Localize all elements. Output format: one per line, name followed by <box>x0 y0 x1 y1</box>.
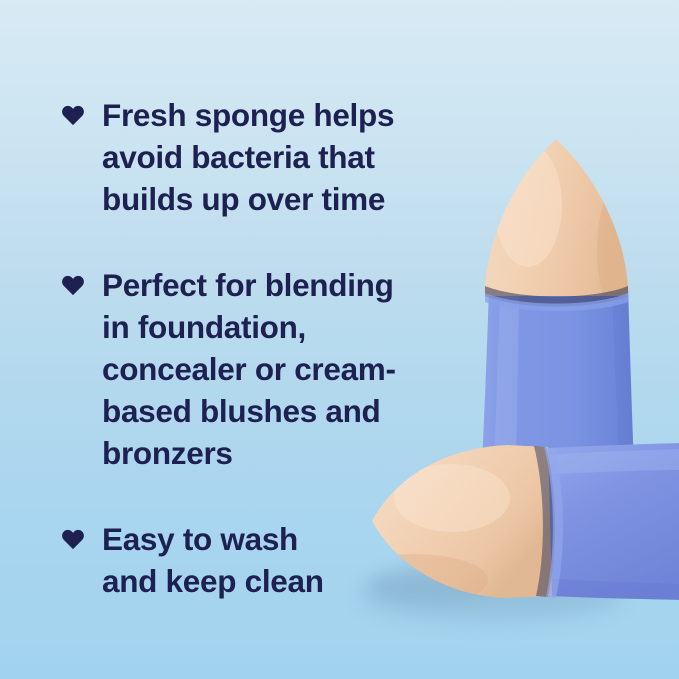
benefit-text-3: Easy to wash and keep clean <box>102 518 480 602</box>
benefit-1-line-1: Fresh sponge helps <box>102 94 480 136</box>
benefit-2-line-1: Perfect for blending <box>102 264 480 306</box>
benefit-text-2: Perfect for blending in foundation, conc… <box>102 264 480 474</box>
benefits-list: Fresh sponge helps avoid bacteria that b… <box>60 94 480 602</box>
benefit-1-line-3: builds up over time <box>102 178 480 220</box>
benefit-3-line-2: and keep clean <box>102 560 480 602</box>
product-feature-poster: Fresh sponge helps avoid bacteria that b… <box>0 0 679 679</box>
heart-icon <box>60 102 86 128</box>
benefit-item-1: Fresh sponge helps avoid bacteria that b… <box>60 94 480 220</box>
benefit-2-line-5: bronzers <box>102 432 480 474</box>
benefit-text-1: Fresh sponge helps avoid bacteria that b… <box>102 94 480 220</box>
heart-icon <box>60 526 86 552</box>
benefit-2-line-4: based blushes and <box>102 390 480 432</box>
heart-icon <box>60 272 86 298</box>
benefit-2-line-2: in foundation, <box>102 306 480 348</box>
benefit-item-2: Perfect for blending in foundation, conc… <box>60 264 480 474</box>
benefit-item-3: Easy to wash and keep clean <box>60 518 480 602</box>
benefit-2-line-3: concealer or cream- <box>102 348 480 390</box>
benefit-3-line-1: Easy to wash <box>102 518 480 560</box>
benefit-1-line-2: avoid bacteria that <box>102 136 480 178</box>
